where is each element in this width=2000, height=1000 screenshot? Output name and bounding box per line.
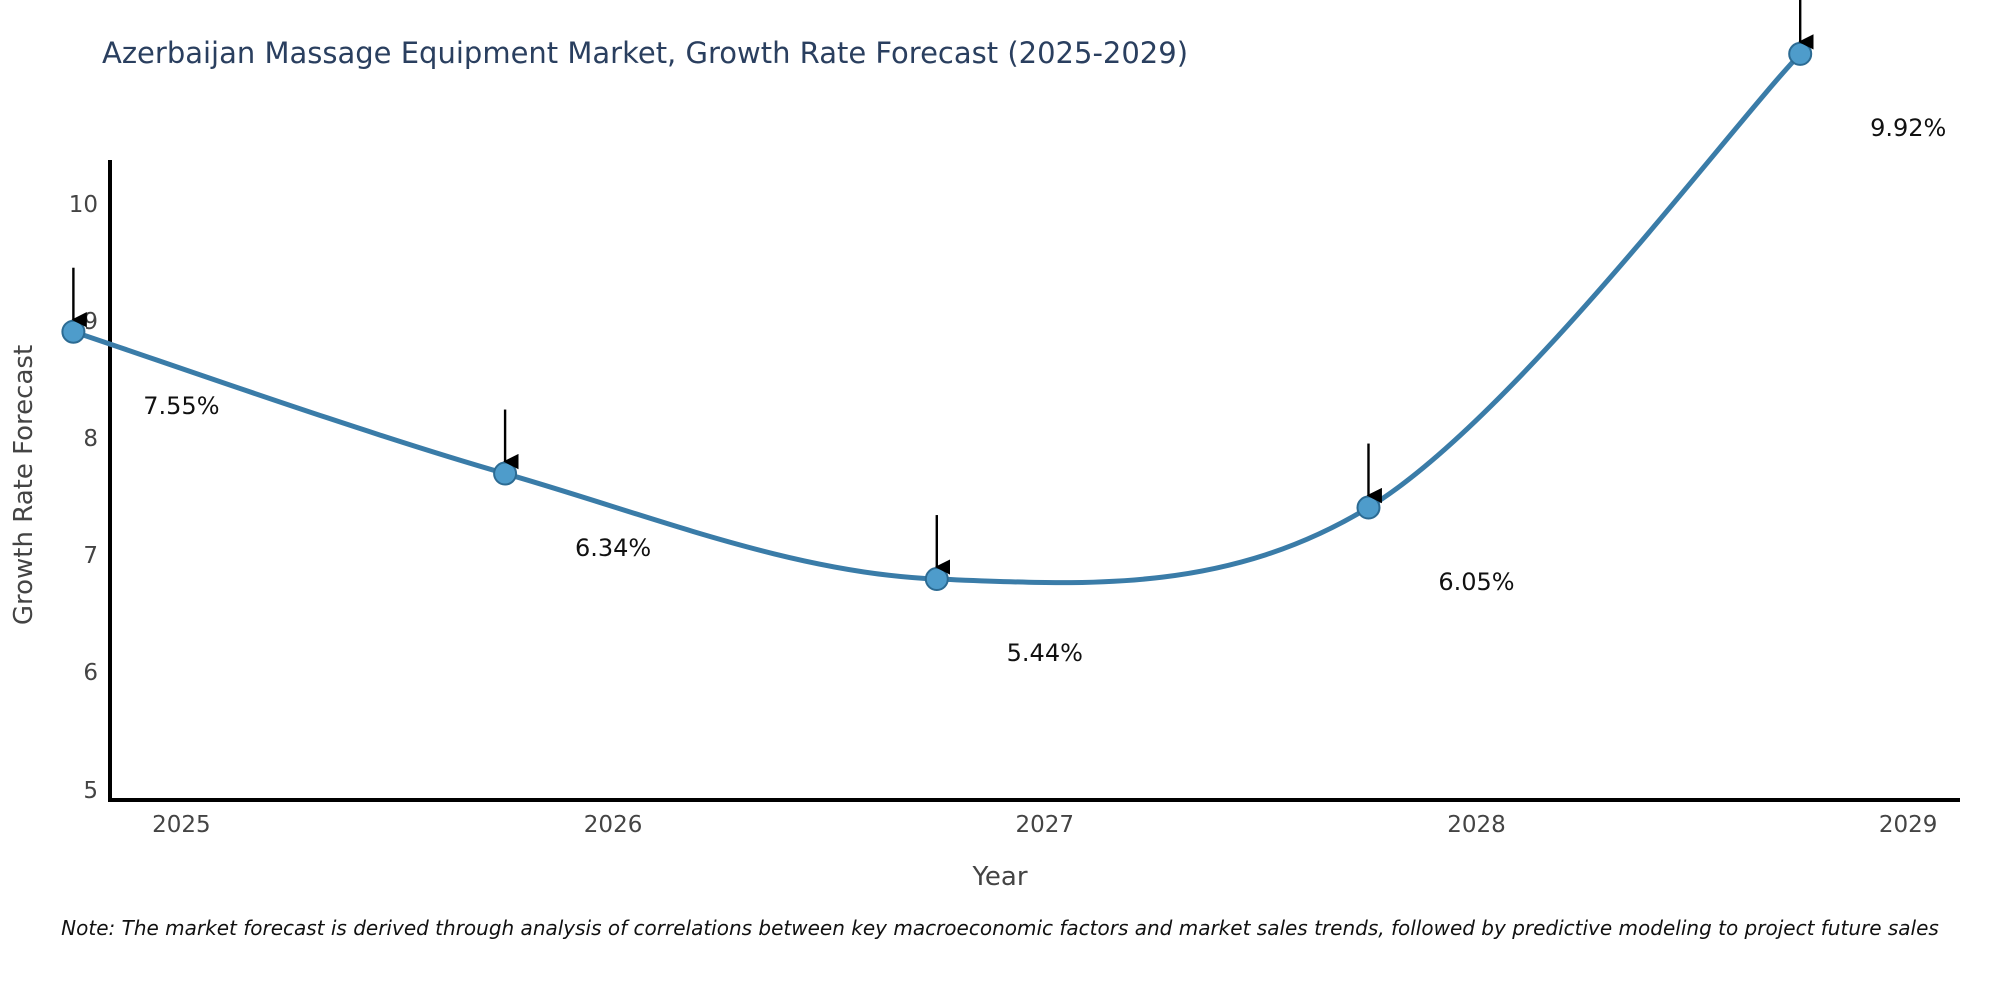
x-tick-label: 2027 (965, 812, 1125, 838)
x-tick-label: 2029 (1828, 812, 1988, 838)
data-point-label: 5.44% (945, 639, 1145, 667)
data-point-label: 7.55% (81, 392, 281, 420)
data-point-marker[interactable] (494, 463, 516, 485)
x-tick-label: 2028 (1396, 812, 1556, 838)
data-point-markers (62, 43, 1811, 590)
x-tick-label: 2026 (533, 812, 693, 838)
x-axis-title: Year (0, 862, 2000, 892)
y-tick-label: 5 (8, 778, 98, 804)
data-point-label: 9.92% (1808, 114, 2000, 142)
x-axis-spine (108, 798, 1960, 802)
data-point-marker[interactable] (62, 321, 84, 343)
data-point-label: 6.34% (513, 534, 713, 562)
chart-figure: Azerbaijan Massage Equipment Market, Gro… (0, 0, 2000, 1000)
data-series-line (73, 54, 1800, 583)
data-point-marker[interactable] (1789, 43, 1811, 65)
chart-plot (0, 0, 1852, 640)
data-point-marker[interactable] (926, 568, 948, 590)
chart-footnote: Note: The market forecast is derived thr… (0, 916, 2000, 940)
data-point-label: 6.05% (1376, 568, 1576, 596)
data-point-marker[interactable] (1357, 497, 1379, 519)
x-tick-label: 2025 (101, 812, 261, 838)
annotation-arrows (73, 0, 1800, 567)
